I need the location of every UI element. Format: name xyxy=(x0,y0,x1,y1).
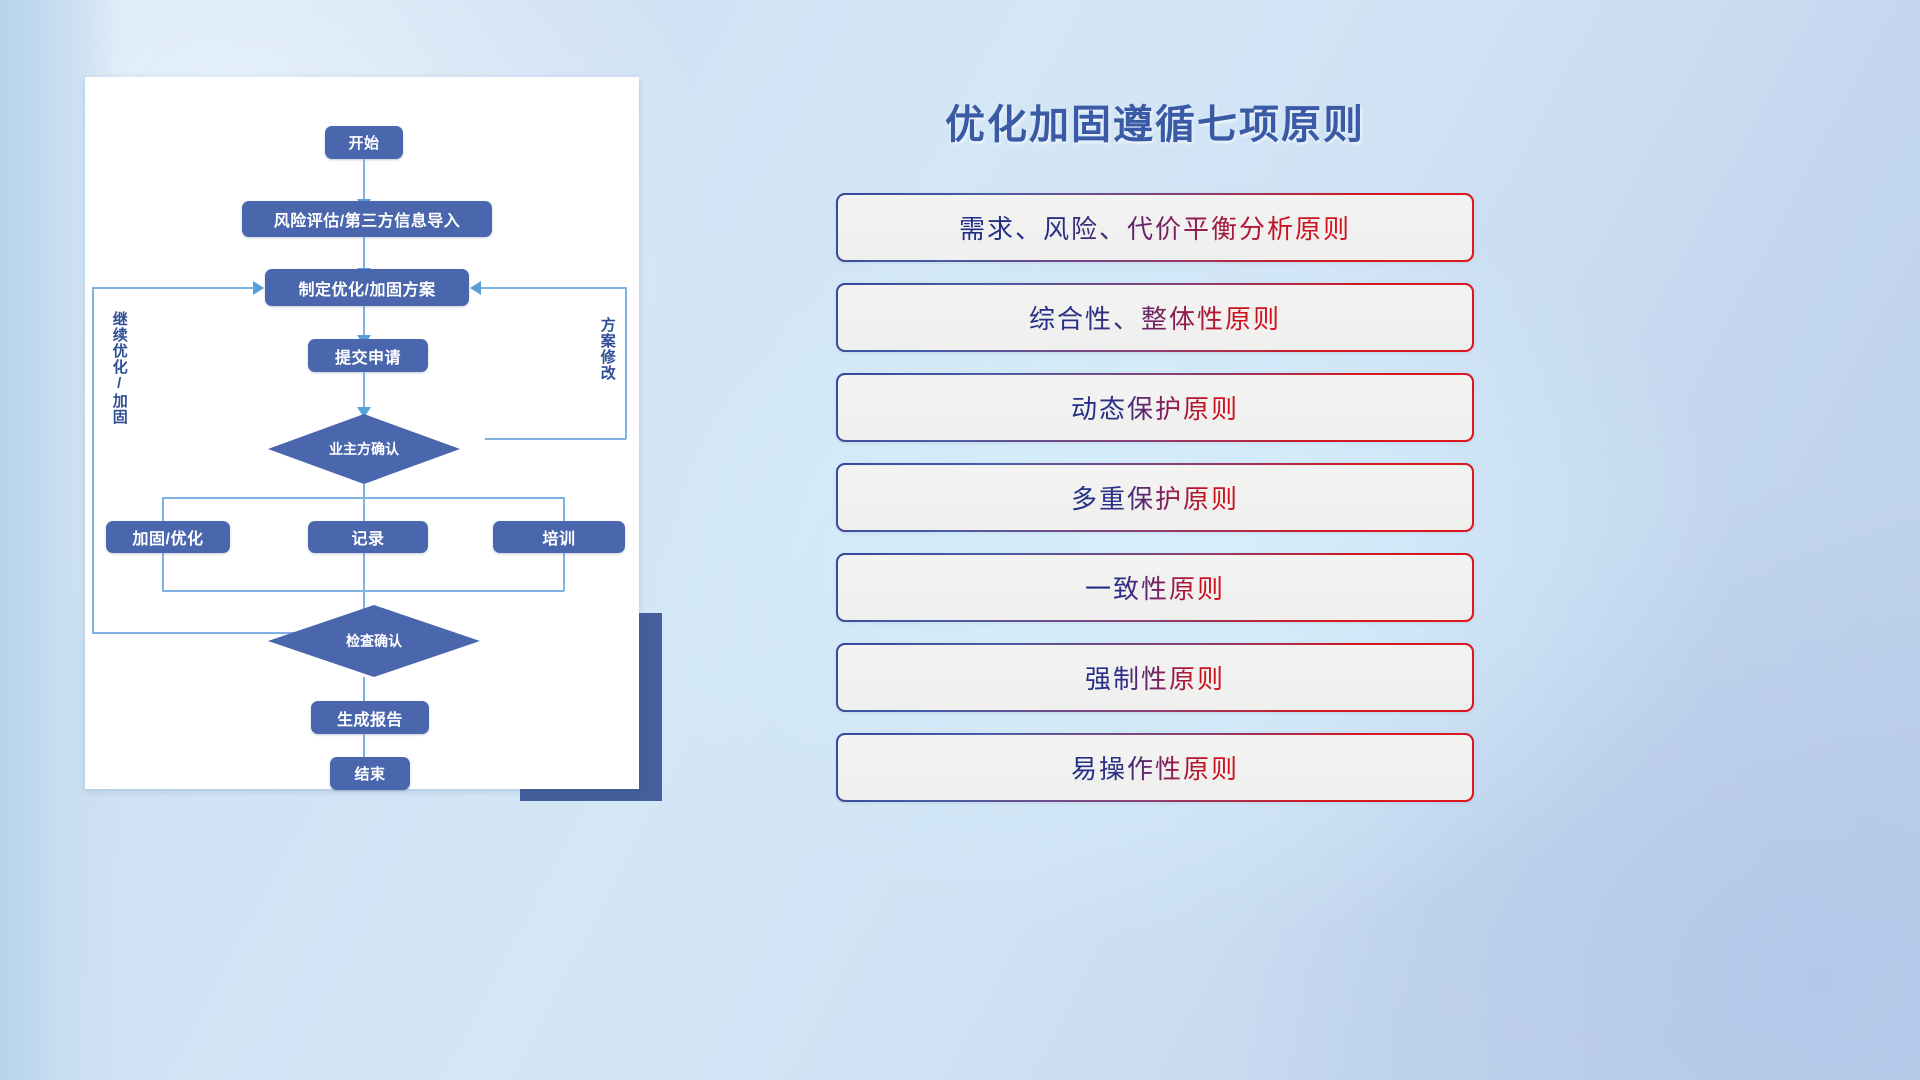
edge-loop-right-bottom xyxy=(485,438,626,440)
node-make-plan[interactable]: 制定优化/加固方案 xyxy=(265,269,469,306)
principle-card-1[interactable]: 需求、风险、代价平衡分析原则 xyxy=(836,193,1474,262)
principle-label-2: 综合性、整体性原则 xyxy=(1029,299,1281,336)
edge-training-down xyxy=(563,553,565,591)
node-owner-confirm[interactable]: 业主方确认 xyxy=(268,414,460,484)
principle-label-4: 多重保护原则 xyxy=(1071,479,1239,516)
node-risk-assessment[interactable]: 风险评估/第三方信息导入 xyxy=(242,201,492,237)
node-inspect-confirm[interactable]: 检查确认 xyxy=(268,605,480,677)
principle-card-7[interactable]: 易操作性原则 xyxy=(836,733,1474,802)
edge-loop-right-vertical xyxy=(625,287,627,439)
edge-loop-left-top xyxy=(92,287,254,289)
node-training[interactable]: 培训 xyxy=(493,521,625,553)
node-reinforce-optimize[interactable]: 加固/优化 xyxy=(106,521,230,553)
principle-label-1: 需求、风险、代价平衡分析原则 xyxy=(959,209,1351,246)
flowchart-canvas: 开始 风险评估/第三方信息导入 制定优化/加固方案 继续优化/加固 方案修改 xyxy=(85,77,639,789)
edge-loop-left-vertical xyxy=(92,287,94,633)
node-start[interactable]: 开始 xyxy=(325,126,403,159)
slide-canvas: 开始 风险评估/第三方信息导入 制定优化/加固方案 继续优化/加固 方案修改 xyxy=(0,0,1920,1080)
principle-card-6[interactable]: 强制性原则 xyxy=(836,643,1474,712)
arrow-loop-right-icon xyxy=(470,281,481,295)
principles-list: 需求、风险、代价平衡分析原则 综合性、整体性原则 动态保护原则 多重保护原则 一… xyxy=(836,193,1474,823)
node-record[interactable]: 记录 xyxy=(308,521,428,553)
edge-branch-bus xyxy=(162,497,564,499)
arrow-loop-left-icon xyxy=(253,281,264,295)
principle-card-2[interactable]: 综合性、整体性原则 xyxy=(836,283,1474,352)
edge-label-continue-optimize: 继续优化/加固 xyxy=(111,311,127,431)
principle-card-4[interactable]: 多重保护原则 xyxy=(836,463,1474,532)
principle-label-5: 一致性原则 xyxy=(1085,569,1225,606)
node-end[interactable]: 结束 xyxy=(330,757,410,790)
principle-label-7: 易操作性原则 xyxy=(1071,749,1239,786)
page-title: 优化加固遵循七项原则 xyxy=(835,92,1475,150)
flowchart-panel: 开始 风险评估/第三方信息导入 制定优化/加固方案 继续优化/加固 方案修改 xyxy=(85,77,639,789)
edge-loop-left-bottom xyxy=(92,632,304,634)
edge-loop-right-top xyxy=(481,287,627,289)
principle-card-3[interactable]: 动态保护原则 xyxy=(836,373,1474,442)
node-generate-report[interactable]: 生成报告 xyxy=(311,701,429,734)
node-submit-application[interactable]: 提交申请 xyxy=(308,339,428,372)
principle-label-3: 动态保护原则 xyxy=(1071,389,1239,426)
principle-label-6: 强制性原则 xyxy=(1085,659,1225,696)
principle-card-5[interactable]: 一致性原则 xyxy=(836,553,1474,622)
edge-label-plan-revision: 方案修改 xyxy=(599,317,615,407)
edge-reinforce-down xyxy=(162,553,164,591)
